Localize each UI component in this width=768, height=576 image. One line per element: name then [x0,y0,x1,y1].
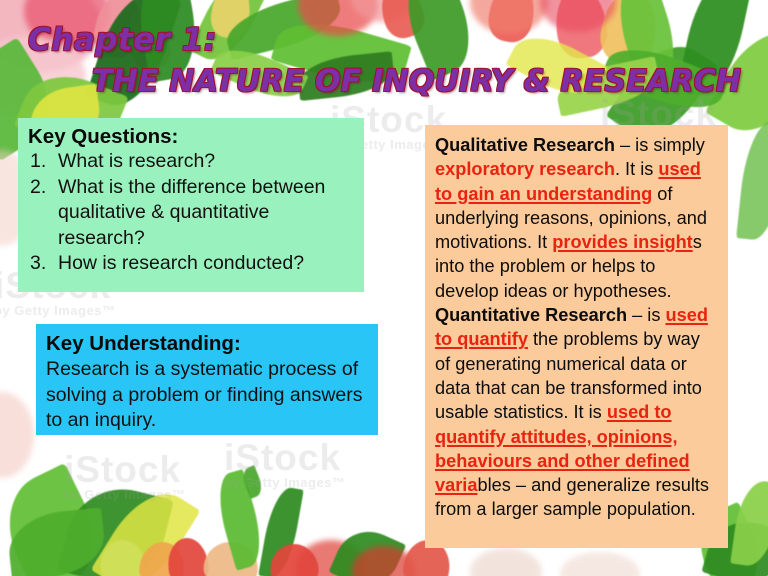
flower-blob-icon [0,392,34,478]
list-item-label: How is research conducted? [58,252,304,274]
list-item-number: 3. [30,251,46,277]
key-questions-list: 1. What is research? 2. What is the diff… [28,149,356,277]
list-item-number: 1. [30,149,46,175]
text-segment-2: exploratory research [435,159,615,179]
text-segment-6: provides insight [552,232,692,252]
slide-title: Chapter 1: THE NATURE OF INQUIRY & RESEA… [0,22,768,99]
text-segment-9: – is [627,305,665,325]
leaf-icon [730,478,768,569]
list-item-label: What is the difference between qualitati… [58,176,325,249]
list-item-label: What is research? [58,150,215,172]
research-definitions-panel: Qualitative Research – is simply explora… [425,125,728,548]
title-line-subject: THE NATURE OF INQUIRY & RESEARCH [92,64,768,99]
key-questions-panel: Key Questions: 1. What is research? 2. W… [18,118,364,292]
list-item: 3. How is research conducted? [28,251,356,277]
title-line-chapter: Chapter 1: [28,22,768,58]
leaf-icon [736,119,768,243]
watermark: iStock by Getty Images™ [64,452,185,502]
text-segment-3: . It is [615,159,658,179]
text-segment-13: bles – and generalize results from a lar… [435,475,709,519]
key-questions-heading: Key Questions: [28,124,356,149]
key-understanding-panel: Key Understanding: Research is a systema… [36,324,378,435]
key-understanding-body: Research is a systematic process of solv… [46,357,370,434]
slide-canvas: iStock by Getty Images™ iStock by Getty … [0,0,768,576]
flower-blob-icon [560,552,640,576]
key-understanding-heading: Key Understanding: [46,331,370,357]
leaf-icon [6,507,108,576]
list-item: 2. What is the difference between qualit… [28,175,356,252]
list-item: 1. What is research? [28,149,356,175]
research-definitions-text: Qualitative Research – is simply explora… [435,133,720,522]
list-item-number: 2. [30,175,46,201]
text-segment-0: Qualitative Research [435,135,615,155]
watermark: iStock by Getty Images™ [224,440,345,490]
flower-blob-icon [470,548,542,576]
text-segment-1: – is simply [615,135,705,155]
text-segment-8: Quantitative Research [435,305,627,325]
